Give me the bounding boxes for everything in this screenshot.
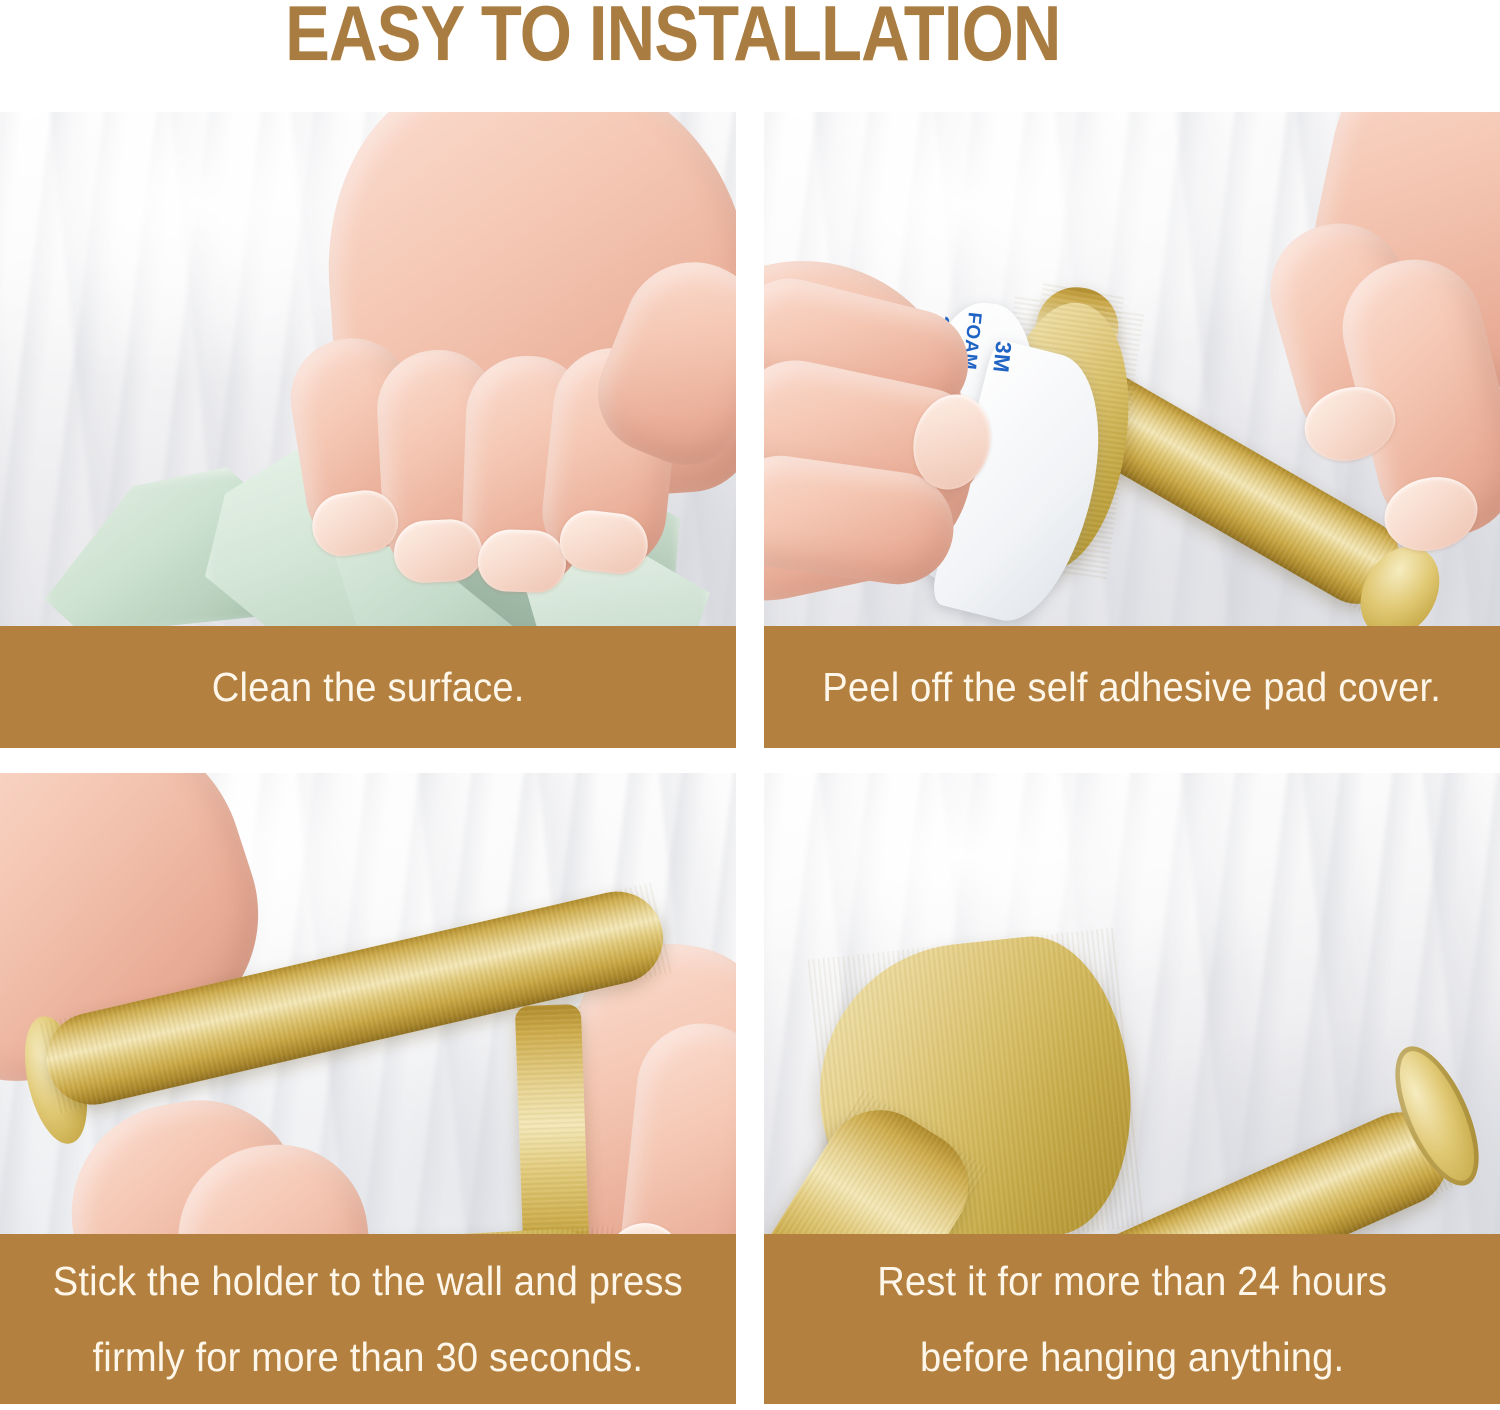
header-banner: EASY TO INSTALLATION: [0, 0, 1500, 112]
step-1-photo: [0, 112, 736, 626]
installation-instruction-graphic: EASY TO INSTALLATION: [0, 0, 1500, 1410]
step-3-caption-text: Stick the holder to the wall and press f…: [53, 1243, 683, 1395]
step-panel-2: 3M FOAM 3M: [764, 112, 1500, 748]
holder-stem-3: [515, 1004, 591, 1234]
step-1-caption-text: Clean the surface.: [212, 664, 525, 710]
step-3-photo: [0, 773, 736, 1234]
step-2-caption-bar: Peel off the self adhesive pad cover.: [764, 626, 1500, 748]
step-2-caption-text: Peel off the self adhesive pad cover.: [823, 664, 1442, 710]
step-panel-4: Rest it for more than 24 hours before ha…: [764, 773, 1500, 1404]
liner-label-3m-bottom: 3M: [987, 340, 1016, 374]
step-1-caption-bar: Clean the surface.: [0, 626, 736, 748]
page-title: EASY TO INSTALLATION: [285, 0, 1060, 74]
step-panel-3: Stick the holder to the wall and press f…: [0, 773, 736, 1404]
step-4-caption-text: Rest it for more than 24 hours before ha…: [877, 1243, 1387, 1395]
step-4-photo: [764, 773, 1500, 1234]
step-4-caption-bar: Rest it for more than 24 hours before ha…: [764, 1234, 1500, 1404]
step-3-caption-bar: Stick the holder to the wall and press f…: [0, 1234, 736, 1404]
steps-grid: Clean the surface.: [0, 112, 1500, 1404]
step-panel-1: Clean the surface.: [0, 112, 736, 748]
step-2-photo: 3M FOAM 3M: [764, 112, 1500, 626]
